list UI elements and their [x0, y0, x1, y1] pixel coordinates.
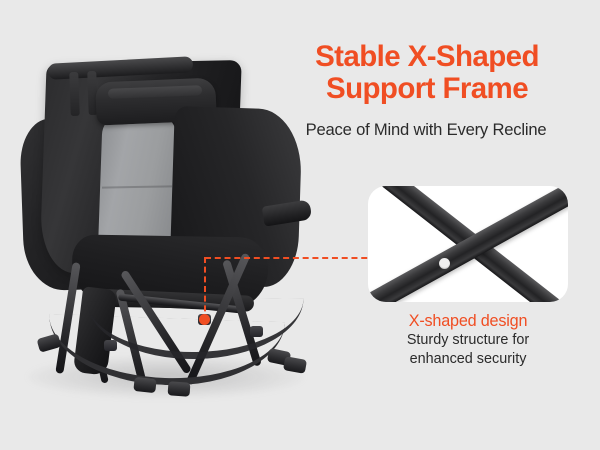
caption-line-1: Sturdy structure for [368, 331, 568, 350]
promo-banner: Stable X-Shaped Support Frame Peace of M… [0, 0, 600, 450]
x-frame-closeup-panel [368, 186, 568, 302]
callout-line-horizontal [205, 257, 377, 259]
callout-anchor-dot [199, 314, 210, 325]
caption-block: X-shaped design Sturdy structure for enh… [368, 312, 568, 369]
chair-foot-front-left [36, 333, 61, 353]
caption-line-2: enhanced security [368, 350, 568, 369]
chair-frame-joint-left [104, 340, 117, 351]
caption-title: X-shaped design [368, 312, 568, 331]
chair-foot-back-left-outer [168, 381, 191, 397]
callout-line-vertical [204, 257, 206, 321]
chair-frame-joint-right [250, 326, 263, 337]
headline-line-1: Stable X-Shaped [262, 41, 592, 73]
headline-line-2: Support Frame [262, 73, 592, 105]
subheadline: Peace of Mind with Every Recline [258, 120, 594, 140]
chair-strap-left [69, 72, 80, 116]
chair-foot-back-left [133, 377, 156, 393]
pivot-rivet-icon [439, 258, 450, 269]
headline: Stable X-Shaped Support Frame [262, 41, 592, 104]
